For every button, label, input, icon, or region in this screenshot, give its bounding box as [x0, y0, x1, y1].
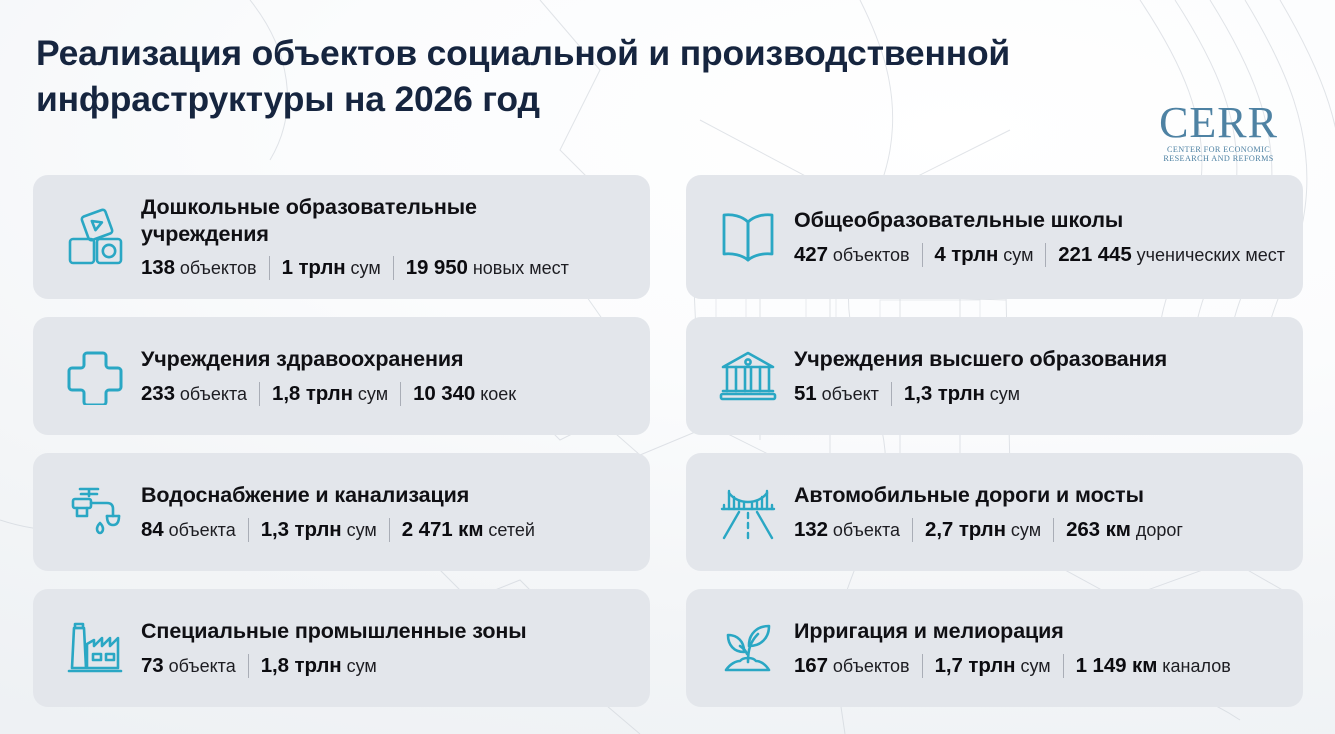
stat-unit: объекта: [169, 520, 236, 541]
medical-cross-icon: [49, 347, 141, 405]
stat-item: 221 445 ученических мест: [1058, 243, 1285, 267]
card-title: Автомобильные дороги и мосты: [794, 482, 1285, 509]
stat-separator: [922, 654, 923, 678]
stat-item: 2,7 трлн сум: [925, 518, 1041, 542]
stat-value: 1 149 км: [1076, 654, 1158, 678]
stat-value: 1,8 трлн: [272, 382, 353, 406]
card-title: Учреждения здравоохранения: [141, 346, 632, 373]
stat-item: 1 трлн сум: [282, 256, 381, 280]
card-healthcare: Учреждения здравоохранения 233 объекта 1…: [33, 317, 650, 435]
stat-unit: сетей: [488, 520, 535, 541]
stat-item: 1,8 трлн сум: [261, 654, 377, 678]
card-stats: 167 объектов 1,7 трлн сум 1 149 км канал…: [794, 654, 1285, 678]
card-stats: 233 объекта 1,8 трлн сум 10 340 коек: [141, 382, 632, 406]
stat-item: 2 471 км сетей: [402, 518, 535, 542]
card-higher-education: Учреждения высшего образования 51 объект…: [686, 317, 1303, 435]
stat-unit: ученических мест: [1137, 245, 1285, 266]
stat-unit: сум: [351, 258, 381, 279]
stat-unit: новых мест: [473, 258, 569, 279]
stat-unit: сум: [1011, 520, 1041, 541]
cerr-logo: CERR CENTER FOR ECONOMIC RESEARCH AND RE…: [1159, 102, 1278, 164]
stat-item: 19 950 новых мест: [406, 256, 569, 280]
card-body: Водоснабжение и канализация 84 объекта 1…: [141, 482, 632, 542]
stat-item: 138 объектов: [141, 256, 257, 280]
open-book-icon: [702, 208, 794, 266]
stat-value: 263 км: [1066, 518, 1131, 542]
stat-item: 1 149 км каналов: [1076, 654, 1231, 678]
card-title: Дошкольные образовательные учреждения: [141, 194, 632, 247]
card-title: Водоснабжение и канализация: [141, 482, 632, 509]
stat-separator: [922, 243, 923, 267]
stat-item: 1,3 трлн сум: [904, 382, 1020, 406]
cards-grid: Дошкольные образовательные учреждения 13…: [33, 175, 1303, 707]
stat-separator: [393, 256, 394, 280]
stat-item: 10 340 коек: [413, 382, 516, 406]
stat-item: 132 объекта: [794, 518, 900, 542]
stat-item: 84 объекта: [141, 518, 236, 542]
stat-separator: [400, 382, 401, 406]
card-stats: 73 объекта 1,8 трлн сум: [141, 654, 632, 678]
stat-value: 1,3 трлн: [904, 382, 985, 406]
card-industrial-zones: Специальные промышленные зоны 73 объекта…: [33, 589, 650, 707]
stat-separator: [248, 654, 249, 678]
card-body: Учреждения высшего образования 51 объект…: [794, 346, 1285, 406]
card-stats: 427 объектов 4 трлн сум 221 445 ученичес…: [794, 243, 1285, 267]
stat-value: 221 445: [1058, 243, 1131, 267]
stat-unit: объектов: [180, 258, 257, 279]
card-general-schools: Общеобразовательные школы 427 объектов 4…: [686, 175, 1303, 299]
stat-unit: каналов: [1162, 656, 1231, 677]
stat-unit: сум: [347, 656, 377, 677]
stat-value: 19 950: [406, 256, 468, 280]
stat-unit: коек: [480, 384, 516, 405]
page-title: Реализация объектов социальной и произво…: [36, 30, 1010, 122]
card-stats: 51 объект 1,3 трлн сум: [794, 382, 1285, 406]
stat-separator: [912, 518, 913, 542]
stat-value: 1,7 трлн: [935, 654, 1016, 678]
card-body: Дошкольные образовательные учреждения 13…: [141, 194, 632, 280]
stat-item: 233 объекта: [141, 382, 247, 406]
stat-item: 263 км дорог: [1066, 518, 1183, 542]
stat-value: 427: [794, 243, 828, 267]
stat-item: 167 объектов: [794, 654, 910, 678]
stat-separator: [1045, 243, 1046, 267]
stat-value: 138: [141, 256, 175, 280]
logo-wordmark: CERR: [1159, 102, 1278, 144]
stat-value: 167: [794, 654, 828, 678]
stat-item: 1,7 трлн сум: [935, 654, 1051, 678]
page-header: Реализация объектов социальной и произво…: [36, 30, 1306, 164]
stat-value: 4 трлн: [934, 243, 998, 267]
stat-unit: объектов: [833, 656, 910, 677]
bridge-road-icon: [702, 483, 794, 541]
stat-separator: [1063, 654, 1064, 678]
stat-unit: сум: [1003, 245, 1033, 266]
stat-value: 132: [794, 518, 828, 542]
stat-value: 10 340: [413, 382, 475, 406]
card-irrigation: Ирригация и мелиорация 167 объектов 1,7 …: [686, 589, 1303, 707]
stat-value: 2,7 трлн: [925, 518, 1006, 542]
stat-value: 2 471 км: [402, 518, 484, 542]
stat-value: 73: [141, 654, 164, 678]
university-building-icon: [702, 348, 794, 404]
card-stats: 132 объекта 2,7 трлн сум 263 км дорог: [794, 518, 1285, 542]
card-stats: 84 объекта 1,3 трлн сум 2 471 км сетей: [141, 518, 632, 542]
stat-unit: объект: [822, 384, 879, 405]
logo-subtitle: CENTER FOR ECONOMIC RESEARCH AND REFORMS: [1159, 145, 1278, 164]
stat-separator: [1053, 518, 1054, 542]
stat-separator: [269, 256, 270, 280]
stat-unit: сум: [1020, 656, 1050, 677]
sprout-plant-icon: [702, 620, 794, 676]
stat-value: 1,8 трлн: [261, 654, 342, 678]
stat-separator: [248, 518, 249, 542]
card-title: Ирригация и мелиорация: [794, 618, 1285, 645]
card-title: Специальные промышленные зоны: [141, 618, 632, 645]
card-water-supply: Водоснабжение и канализация 84 объекта 1…: [33, 453, 650, 571]
stat-unit: объекта: [169, 656, 236, 677]
card-body: Учреждения здравоохранения 233 объекта 1…: [141, 346, 632, 406]
stat-item: 51 объект: [794, 382, 879, 406]
stat-item: 1,8 трлн сум: [272, 382, 388, 406]
stat-value: 233: [141, 382, 175, 406]
toy-blocks-icon: [49, 206, 141, 268]
card-roads-bridges: Автомобильные дороги и мосты 132 объекта…: [686, 453, 1303, 571]
card-body: Ирригация и мелиорация 167 объектов 1,7 …: [794, 618, 1285, 678]
stat-unit: объекта: [833, 520, 900, 541]
stat-unit: объекта: [180, 384, 247, 405]
stat-unit: сум: [990, 384, 1020, 405]
card-body: Автомобильные дороги и мосты 132 объекта…: [794, 482, 1285, 542]
stat-item: 73 объекта: [141, 654, 236, 678]
card-body: Специальные промышленные зоны 73 объекта…: [141, 618, 632, 678]
water-tap-icon: [49, 482, 141, 542]
stat-item: 4 трлн сум: [934, 243, 1033, 267]
stat-separator: [389, 518, 390, 542]
stat-separator: [891, 382, 892, 406]
stat-value: 51: [794, 382, 817, 406]
stat-unit: дорог: [1136, 520, 1183, 541]
stat-item: 1,3 трлн сум: [261, 518, 377, 542]
card-body: Общеобразовательные школы 427 объектов 4…: [794, 207, 1285, 267]
card-title: Учреждения высшего образования: [794, 346, 1285, 373]
infographic-page: Реализация объектов социальной и произво…: [0, 0, 1335, 734]
stat-unit: сум: [358, 384, 388, 405]
factory-icon: [49, 620, 141, 676]
card-stats: 138 объектов 1 трлн сум 19 950 новых мес…: [141, 256, 632, 280]
stat-item: 427 объектов: [794, 243, 910, 267]
stat-value: 1 трлн: [282, 256, 346, 280]
stat-value: 84: [141, 518, 164, 542]
card-title: Общеобразовательные школы: [794, 207, 1285, 234]
stat-unit: сум: [347, 520, 377, 541]
card-preschool-education: Дошкольные образовательные учреждения 13…: [33, 175, 650, 299]
stat-separator: [259, 382, 260, 406]
stat-unit: объектов: [833, 245, 910, 266]
stat-value: 1,3 трлн: [261, 518, 342, 542]
